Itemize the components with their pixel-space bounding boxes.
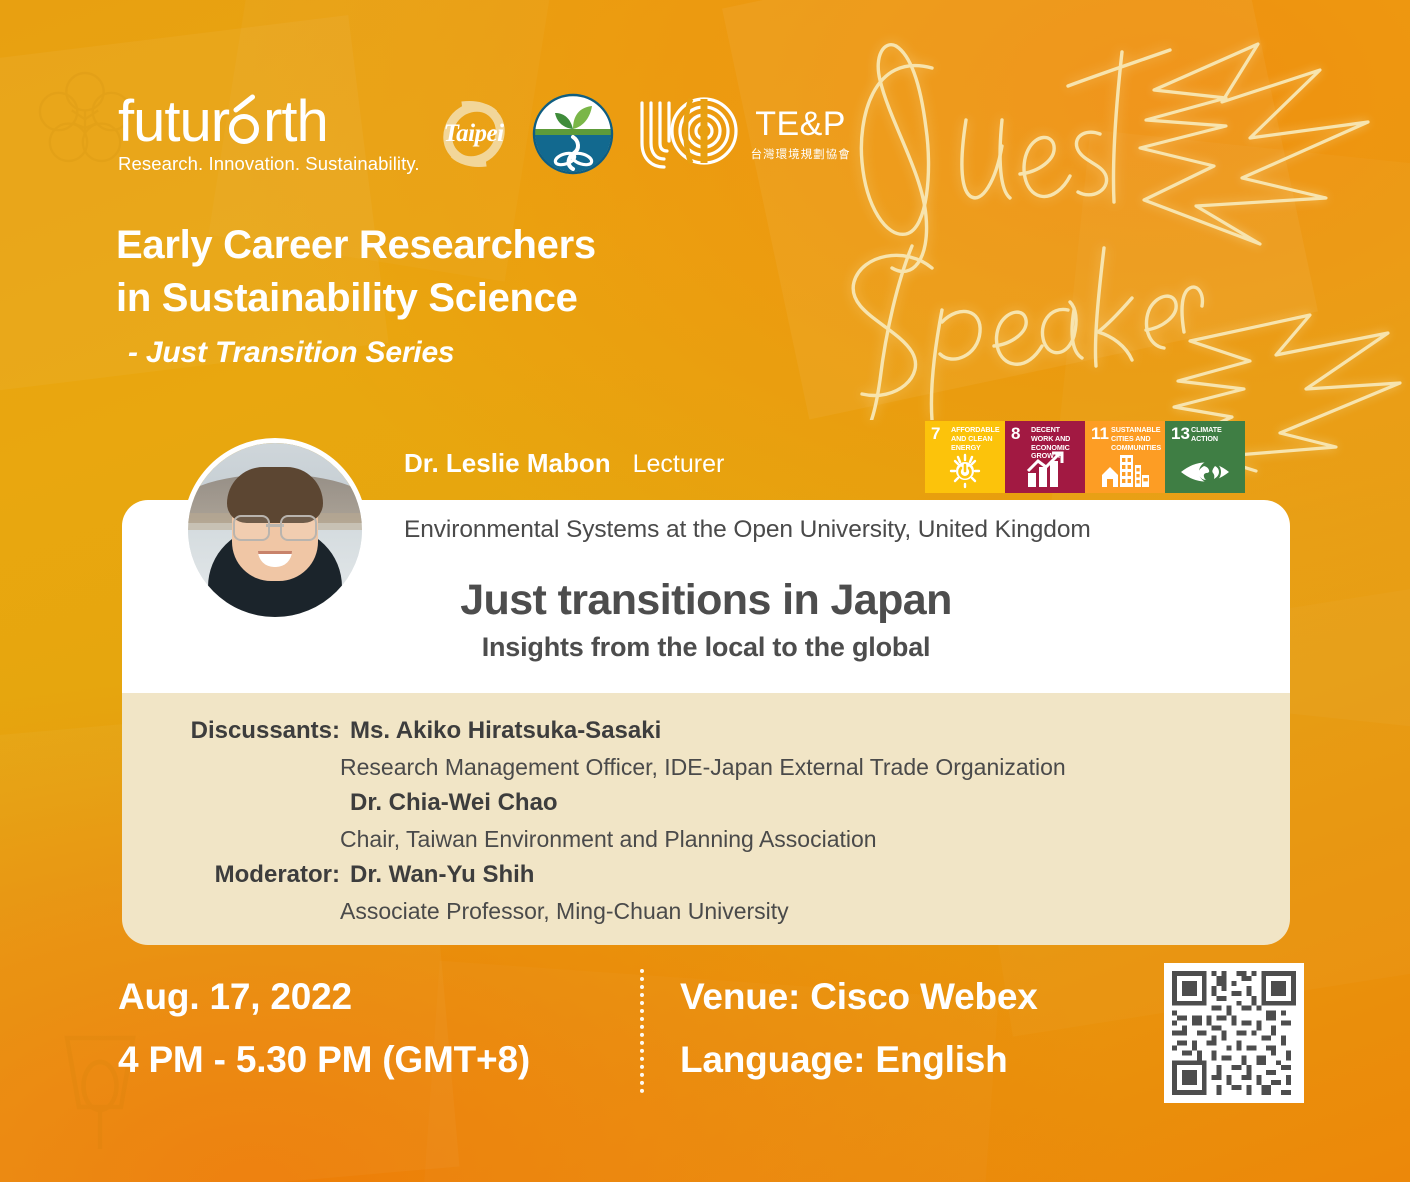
- moderator-label: Moderator:: [172, 857, 350, 893]
- sdg-badge-7: 7 AFFORDABLE AND CLEAN ENERGY: [925, 421, 1005, 493]
- sdg-number: 13: [1171, 425, 1190, 442]
- discussants-label: Discussants:: [172, 713, 350, 749]
- series-subtitle: - Just Transition Series: [128, 336, 454, 370]
- growth-chart-icon: [1005, 451, 1085, 489]
- tep-abbreviation: TE&P: [755, 107, 846, 141]
- list-item: Discussants: Ms. Akiko Hiratsuka-Sasaki: [172, 713, 1270, 749]
- tep-logo: TE&P 台灣環境規劃協會: [751, 107, 851, 162]
- sdg-label: AFFORDABLE AND CLEAN ENERGY: [951, 426, 1002, 452]
- future-earth-wordmark: futurrth: [118, 93, 420, 151]
- event-date: Aug. 17, 2022: [118, 965, 530, 1028]
- seed-emblem-logo: [532, 93, 614, 175]
- moderator-affiliation: Associate Professor, Ming-Chuan Universi…: [340, 893, 1270, 929]
- title-line-1: Early Career Researchers: [116, 219, 596, 272]
- title-line-2: in Sustainability Science: [116, 272, 596, 325]
- panel-card: Discussants: Ms. Akiko Hiratsuka-Sasaki …: [122, 693, 1290, 945]
- sdg-badge-group: 7 AFFORDABLE AND CLEAN ENERGY 8 DECENT W…: [925, 421, 1245, 493]
- neon-arrow-icon: [1130, 30, 1410, 260]
- speaker-headline: Dr. Leslie Mabon Lecturer: [404, 448, 724, 479]
- discussant-affiliation: Research Management Officer, IDE-Japan E…: [340, 749, 1270, 785]
- avatar: portrait-photo-of-speaker: [188, 443, 362, 617]
- taipei-logo: Taipei: [432, 92, 516, 176]
- event-time: 4 PM - 5.30 PM (GMT+8): [118, 1028, 530, 1091]
- event-poster: Guest Speaker: [0, 0, 1410, 1182]
- discussant-name: Ms. Akiko Hiratsuka-Sasaki: [350, 713, 661, 749]
- talk-subtitle: Insights from the local to the global: [122, 632, 1290, 663]
- sdg-number: 7: [931, 425, 940, 442]
- qr-code[interactable]: qr-code-registration: [1164, 963, 1304, 1103]
- page-title: Early Career Researchers in Sustainabili…: [116, 219, 596, 325]
- discussant-name: Dr. Chia-Wei Chao: [350, 785, 558, 821]
- sun-power-icon: [925, 451, 1005, 489]
- fingerprint-spiral-logo: [636, 93, 741, 175]
- future-earth-tagline: Research. Innovation. Sustainability.: [118, 153, 420, 175]
- guest-speaker-script: Guest Speaker: [800, 10, 1410, 420]
- moderator-name: Dr. Wan-Yu Shih: [350, 857, 534, 893]
- discussant-affiliation: Chair, Taiwan Environment and Planning A…: [340, 821, 1270, 857]
- speaker-name: Dr. Leslie Mabon: [404, 448, 611, 479]
- background-pane: [722, 0, 1318, 419]
- event-venue: Venue: Cisco Webex: [680, 965, 1038, 1028]
- list-item: Moderator: Dr. Wan-Yu Shih: [172, 857, 1270, 893]
- event-language: Language: English: [680, 1028, 1038, 1091]
- footer-datetime: Aug. 17, 2022 4 PM - 5.30 PM (GMT+8): [118, 965, 530, 1091]
- logo-lockup: futurrth Research. Innovation. Sustainab…: [118, 92, 851, 176]
- taipei-wordmark: Taipei: [432, 120, 516, 148]
- footer-divider: [640, 969, 644, 1093]
- panel-list: Discussants: Ms. Akiko Hiratsuka-Sasaki …: [172, 713, 1270, 929]
- city-buildings-icon: [1085, 453, 1165, 489]
- sdg-number: 11: [1091, 425, 1109, 442]
- sdg-badge-13: 13 CLIMATE ACTION: [1165, 421, 1245, 493]
- speaker-affiliation: Environmental Systems at the Open Univer…: [404, 516, 1091, 544]
- sdg-badge-8: 8 DECENT WORK AND ECONOMIC GROWTH: [1005, 421, 1085, 493]
- sdg-number: 8: [1011, 425, 1020, 442]
- sdg-label: CLIMATE ACTION: [1191, 426, 1242, 444]
- earth-oe-ligature-icon: [229, 105, 263, 145]
- footer-venue-language: Venue: Cisco Webex Language: English: [680, 965, 1038, 1091]
- eye-earth-icon: [1165, 455, 1245, 489]
- tep-chinese-name: 台灣環境規劃協會: [751, 146, 851, 162]
- future-earth-logo: futurrth Research. Innovation. Sustainab…: [118, 93, 420, 175]
- sdg-badge-11: 11 SUSTAINABLE CITIES AND COMMUNITIES: [1085, 421, 1165, 493]
- speaker-role: Lecturer: [633, 450, 725, 479]
- list-item: Dr. Chia-Wei Chao: [172, 785, 1270, 821]
- sdg-label: SUSTAINABLE CITIES AND COMMUNITIES: [1111, 426, 1162, 452]
